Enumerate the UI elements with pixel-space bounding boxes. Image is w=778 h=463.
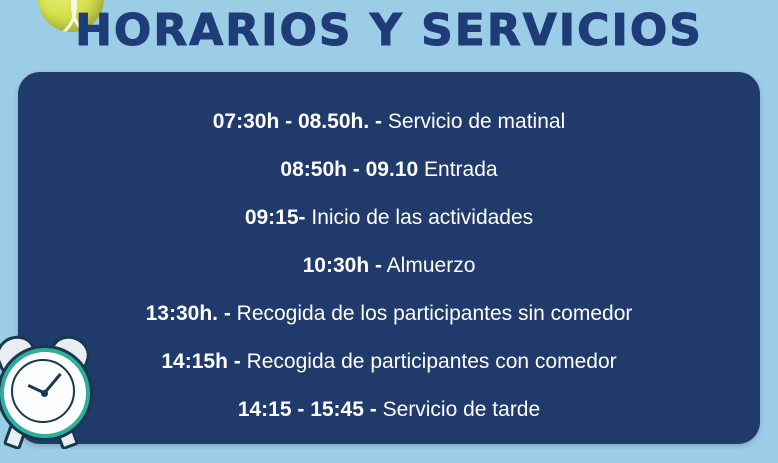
clock-pivot — [41, 390, 48, 397]
alarm-clock-face — [11, 359, 75, 423]
alarm-clock-icon — [0, 330, 94, 446]
schedule-time: 14:15 - 15:45 - — [238, 398, 377, 421]
schedule-desc: Almuerzo — [382, 254, 475, 277]
list-item: 09:15- Inicio de las actividades — [18, 194, 760, 242]
list-item: 14:15 - 15:45 - Servicio de tarde — [18, 386, 760, 434]
list-item: 07:30h - 08.50h. - Servicio de matinal — [18, 98, 760, 146]
schedule-desc: Entrada — [418, 158, 497, 181]
schedule-time: 08:50h - 09.10 — [280, 158, 418, 181]
schedule-panel: 07:30h - 08.50h. - Servicio de matinal 0… — [18, 72, 760, 444]
schedule-time: 09:15- — [245, 206, 306, 229]
schedule-desc: Servicio de tarde — [377, 398, 540, 421]
schedule-time: 07:30h - 08.50h. - — [213, 110, 382, 133]
bottom-band — [0, 449, 778, 463]
poster-canvas: HORARIOS Y SERVICIOS 07:30h - 08.50h. - … — [0, 0, 778, 463]
list-item: 08:50h - 09.10 Entrada — [18, 146, 760, 194]
schedule-desc: Inicio de las actividades — [306, 206, 534, 229]
schedule-time: 13:30h. - — [146, 302, 231, 325]
schedule-list: 07:30h - 08.50h. - Servicio de matinal 0… — [18, 98, 760, 434]
schedule-time: 14:15h - — [161, 350, 240, 373]
schedule-desc: Recogida de participantes con comedor — [241, 350, 617, 373]
schedule-desc: Servicio de matinal — [382, 110, 565, 133]
alarm-clock-body — [0, 348, 90, 438]
list-item: 13:30h. - Recogida de los participantes … — [18, 290, 760, 338]
schedule-time: 10:30h - — [303, 254, 382, 277]
page-title: HORARIOS Y SERVICIOS — [0, 2, 778, 60]
schedule-desc: Recogida de los participantes sin comedo… — [231, 302, 633, 325]
list-item: 14:15h - Recogida de participantes con c… — [18, 338, 760, 386]
list-item: 10:30h - Almuerzo — [18, 242, 760, 290]
